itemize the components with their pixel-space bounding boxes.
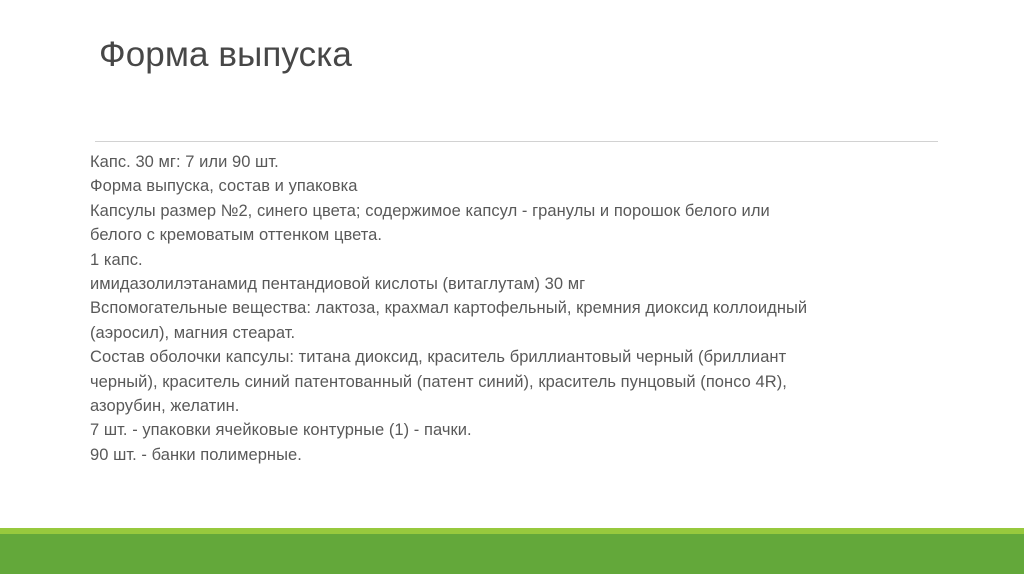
page-title: Форма выпуска (99, 33, 939, 77)
body-line: Состав оболочки капсулы: титана диоксид,… (90, 345, 970, 369)
body-line: Вспомогательные вещества: лактоза, крахм… (90, 296, 970, 320)
body-line: Капс. 30 мг: 7 или 90 шт. (90, 150, 970, 174)
footer-accent-band-dark (0, 534, 1024, 574)
body-line: черный), краситель синий патентованный (… (90, 370, 970, 394)
body-line: белого с кремоватым оттенком цвета. (90, 223, 970, 247)
body-line: Форма выпуска, состав и упаковка (90, 174, 970, 198)
body-line: 7 шт. - упаковки ячейковые контурные (1)… (90, 418, 970, 442)
slide-canvas: Форма выпуска Капс. 30 мг: 7 или 90 шт. … (0, 0, 1024, 574)
title-divider-rule (95, 141, 938, 142)
body-line: Капсулы размер №2, синего цвета; содержи… (90, 199, 970, 223)
body-line: азорубин, желатин. (90, 394, 970, 418)
body-line: 1 капс. (90, 248, 970, 272)
body-text-block: Капс. 30 мг: 7 или 90 шт. Форма выпуска,… (90, 150, 970, 467)
body-line: (аэросил), магния стеарат. (90, 321, 970, 345)
body-line: 90 шт. - банки полимерные. (90, 443, 970, 467)
body-line: имидазолилэтанамид пентандиовой кислоты … (90, 272, 970, 296)
